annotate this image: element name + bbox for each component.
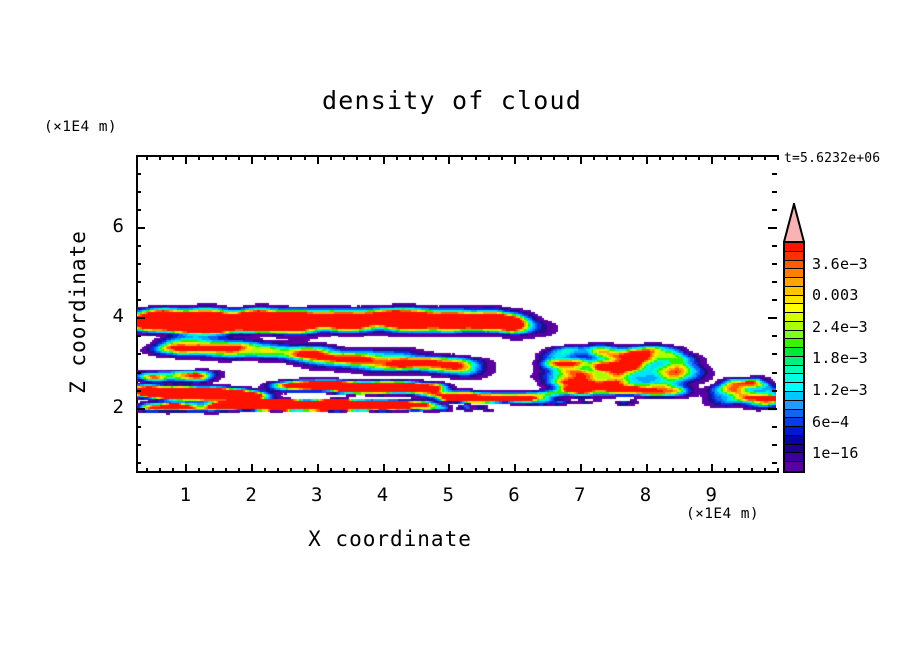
colorbar-label: 1e−16	[812, 444, 859, 462]
x-top-major-tick	[383, 155, 385, 164]
y-tick-label: 6	[84, 215, 124, 237]
colorbar-band	[785, 392, 803, 401]
x-minor-tick	[567, 468, 569, 473]
colorbar-band	[785, 418, 803, 427]
x-axis-unit-label: (×1E4 m)	[686, 506, 759, 522]
x-top-minor-tick	[527, 155, 529, 160]
x-top-minor-tick	[356, 155, 358, 160]
x-top-major-tick	[448, 155, 450, 164]
x-major-tick	[646, 464, 648, 473]
colorbar-label: 1.8e−3	[812, 349, 868, 367]
x-minor-tick	[146, 468, 148, 473]
x-minor-tick	[685, 468, 687, 473]
y-axis-unit-label: (×1E4 m)	[44, 119, 117, 135]
x-top-minor-tick	[146, 155, 148, 160]
y-right-major-tick	[768, 317, 777, 319]
colorbar-band	[785, 322, 803, 331]
y-right-minor-tick	[772, 299, 777, 301]
x-minor-tick	[435, 468, 437, 473]
x-minor-tick	[764, 468, 766, 473]
x-top-minor-tick	[172, 155, 174, 160]
colorbar-band	[785, 462, 803, 471]
x-top-minor-tick	[488, 155, 490, 160]
contour-plot-area	[137, 157, 776, 472]
x-minor-tick	[698, 468, 700, 473]
y-minor-tick	[136, 263, 141, 265]
x-tick-label: 8	[626, 484, 666, 506]
y-minor-tick	[136, 191, 141, 193]
y-right-minor-tick	[772, 155, 777, 157]
y-right-minor-tick	[772, 191, 777, 193]
x-top-minor-tick	[409, 155, 411, 160]
y-minor-tick	[136, 462, 141, 464]
x-top-minor-tick	[501, 155, 503, 160]
x-axis-title: X coordinate	[0, 527, 780, 551]
y-tick-label: 2	[84, 396, 124, 418]
colorbar-band	[785, 401, 803, 410]
colorbar-band	[785, 331, 803, 340]
colorbar-band	[785, 304, 803, 313]
x-minor-tick	[606, 468, 608, 473]
x-top-minor-tick	[540, 155, 542, 160]
y-minor-tick	[136, 444, 141, 446]
x-top-minor-tick	[475, 155, 477, 160]
colorbar-label: 6e−4	[812, 413, 849, 431]
colorbar-band	[785, 252, 803, 261]
x-top-major-tick	[711, 155, 713, 164]
x-minor-tick	[330, 468, 332, 473]
colorbar-band	[785, 445, 803, 454]
x-top-major-tick	[514, 155, 516, 164]
x-top-minor-tick	[593, 155, 595, 160]
x-minor-tick	[738, 468, 740, 473]
x-top-minor-tick	[777, 155, 779, 160]
x-minor-tick	[172, 468, 174, 473]
x-tick-label: 5	[428, 484, 468, 506]
y-right-minor-tick	[772, 372, 777, 374]
x-tick-label: 1	[165, 484, 205, 506]
timestamp-annotation: t=5.6232e+06	[784, 151, 880, 166]
x-top-minor-tick	[738, 155, 740, 160]
y-right-minor-tick	[772, 390, 777, 392]
x-top-minor-tick	[198, 155, 200, 160]
x-top-minor-tick	[724, 155, 726, 160]
x-top-minor-tick	[304, 155, 306, 160]
x-minor-tick	[409, 468, 411, 473]
x-top-minor-tick	[553, 155, 555, 160]
x-tick-label: 3	[297, 484, 337, 506]
colorbar-band	[785, 261, 803, 270]
colorbar-label: 0.003	[812, 286, 859, 304]
y-major-tick	[136, 227, 145, 229]
colorbar-band	[785, 287, 803, 296]
colorbar-band	[785, 427, 803, 436]
x-top-minor-tick	[369, 155, 371, 160]
y-minor-tick	[136, 426, 141, 428]
x-top-minor-tick	[238, 155, 240, 160]
x-tick-label: 9	[691, 484, 731, 506]
x-minor-tick	[225, 468, 227, 473]
x-minor-tick	[501, 468, 503, 473]
x-top-minor-tick	[764, 155, 766, 160]
x-top-major-tick	[580, 155, 582, 164]
x-minor-tick	[369, 468, 371, 473]
colorbar-band	[785, 383, 803, 392]
x-minor-tick	[212, 468, 214, 473]
x-top-minor-tick	[567, 155, 569, 160]
y-right-minor-tick	[772, 353, 777, 355]
colorbar-band	[785, 243, 803, 252]
x-minor-tick	[264, 468, 266, 473]
colorbar-band	[785, 366, 803, 375]
x-minor-tick	[659, 468, 661, 473]
x-minor-tick	[475, 468, 477, 473]
x-top-minor-tick	[619, 155, 621, 160]
colorbar-label: 2.4e−3	[812, 318, 868, 336]
x-top-minor-tick	[396, 155, 398, 160]
x-tick-label: 2	[231, 484, 271, 506]
y-minor-tick	[136, 299, 141, 301]
y-minor-tick	[136, 173, 141, 175]
y-minor-tick	[136, 209, 141, 211]
x-major-tick	[711, 464, 713, 473]
x-top-minor-tick	[672, 155, 674, 160]
y-right-minor-tick	[772, 173, 777, 175]
x-top-major-tick	[185, 155, 187, 164]
x-top-minor-tick	[277, 155, 279, 160]
x-minor-tick	[343, 468, 345, 473]
x-top-minor-tick	[461, 155, 463, 160]
x-minor-tick	[396, 468, 398, 473]
y-right-minor-tick	[772, 263, 777, 265]
y-minor-tick	[136, 335, 141, 337]
y-right-minor-tick	[772, 209, 777, 211]
colorbar-label: 1.2e−3	[812, 381, 868, 399]
x-tick-label: 7	[560, 484, 600, 506]
colorbar-overflow-arrow	[783, 203, 805, 243]
x-minor-tick	[619, 468, 621, 473]
colorbar-band	[785, 410, 803, 419]
x-minor-tick	[422, 468, 424, 473]
x-minor-tick	[593, 468, 595, 473]
figure-canvas: density of cloud (×1E4 m) (×1E4 m) t=5.6…	[0, 0, 904, 654]
x-minor-tick	[724, 468, 726, 473]
x-minor-tick	[304, 468, 306, 473]
x-minor-tick	[777, 468, 779, 473]
colorbar-band	[785, 339, 803, 348]
x-minor-tick	[290, 468, 292, 473]
y-right-minor-tick	[772, 444, 777, 446]
x-major-tick	[514, 464, 516, 473]
colorbar-band	[785, 357, 803, 366]
x-minor-tick	[159, 468, 161, 473]
x-minor-tick	[527, 468, 529, 473]
colorbar-band	[785, 278, 803, 287]
x-top-minor-tick	[212, 155, 214, 160]
colorbar-band	[785, 374, 803, 383]
x-major-tick	[580, 464, 582, 473]
x-minor-tick	[277, 468, 279, 473]
y-minor-tick	[136, 245, 141, 247]
y-right-minor-tick	[772, 245, 777, 247]
y-major-tick	[136, 317, 145, 319]
colorbar-band	[785, 269, 803, 278]
x-top-minor-tick	[422, 155, 424, 160]
x-top-minor-tick	[264, 155, 266, 160]
colorbar-band	[785, 348, 803, 357]
x-top-minor-tick	[606, 155, 608, 160]
x-top-major-tick	[317, 155, 319, 164]
x-tick-label: 6	[494, 484, 534, 506]
page-title: density of cloud	[0, 86, 904, 115]
x-top-minor-tick	[330, 155, 332, 160]
x-top-minor-tick	[435, 155, 437, 160]
colorbar-arrow-icon	[783, 203, 805, 243]
x-major-tick	[317, 464, 319, 473]
x-minor-tick	[751, 468, 753, 473]
x-top-minor-tick	[632, 155, 634, 160]
x-top-major-tick	[251, 155, 253, 164]
x-top-minor-tick	[159, 155, 161, 160]
y-right-minor-tick	[772, 426, 777, 428]
colorbar-band	[785, 313, 803, 322]
y-tick-label: 4	[84, 305, 124, 327]
colorbar-band	[785, 436, 803, 445]
y-right-major-tick	[768, 408, 777, 410]
x-minor-tick	[672, 468, 674, 473]
x-major-tick	[185, 464, 187, 473]
x-top-minor-tick	[343, 155, 345, 160]
x-minor-tick	[198, 468, 200, 473]
colorbar	[783, 241, 805, 473]
x-top-minor-tick	[659, 155, 661, 160]
x-top-minor-tick	[290, 155, 292, 160]
x-top-minor-tick	[685, 155, 687, 160]
x-major-tick	[448, 464, 450, 473]
x-top-minor-tick	[698, 155, 700, 160]
x-minor-tick	[356, 468, 358, 473]
y-right-major-tick	[768, 227, 777, 229]
y-minor-tick	[136, 390, 141, 392]
colorbar-label: 3.6e−3	[812, 255, 868, 273]
x-minor-tick	[461, 468, 463, 473]
x-tick-label: 4	[363, 484, 403, 506]
y-minor-tick	[136, 353, 141, 355]
y-right-minor-tick	[772, 281, 777, 283]
y-minor-tick	[136, 372, 141, 374]
x-top-minor-tick	[225, 155, 227, 160]
x-major-tick	[383, 464, 385, 473]
y-right-minor-tick	[772, 335, 777, 337]
x-minor-tick	[553, 468, 555, 473]
colorbar-band	[785, 453, 803, 462]
colorbar-band	[785, 296, 803, 305]
x-minor-tick	[488, 468, 490, 473]
x-minor-tick	[632, 468, 634, 473]
y-minor-tick	[136, 155, 141, 157]
x-minor-tick	[540, 468, 542, 473]
y-minor-tick	[136, 281, 141, 283]
x-top-minor-tick	[751, 155, 753, 160]
y-right-minor-tick	[772, 462, 777, 464]
x-major-tick	[251, 464, 253, 473]
x-minor-tick	[238, 468, 240, 473]
x-top-major-tick	[646, 155, 648, 164]
y-major-tick	[136, 408, 145, 410]
